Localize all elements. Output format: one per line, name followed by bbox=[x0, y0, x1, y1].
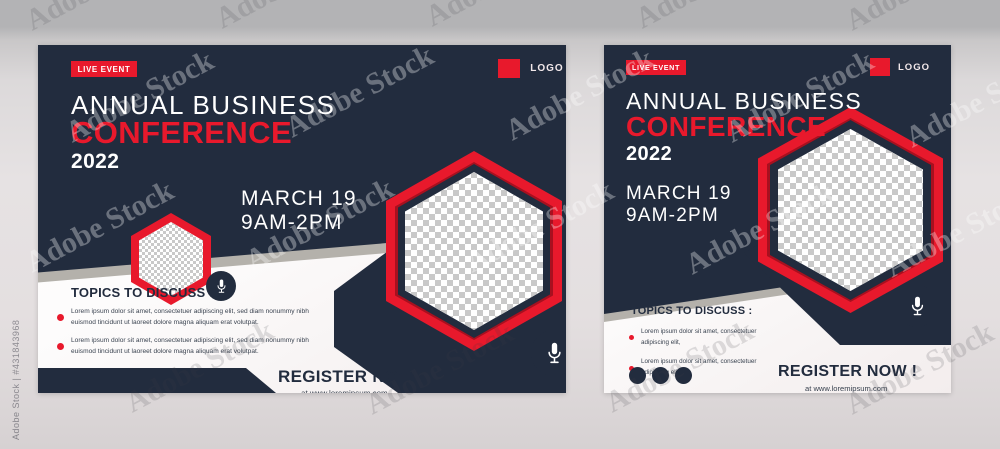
watermark-text: Adobe Stock bbox=[20, 0, 179, 38]
wide-banner-topics-list: Lorem ipsum dolor sit amet, consectetuer… bbox=[57, 307, 325, 358]
wide-banner-date-line2: 9AM-2PM bbox=[241, 211, 343, 235]
bullet-dot-icon bbox=[57, 314, 64, 321]
square-banner-live-event-badge[interactable]: LIVE EVENT bbox=[626, 60, 686, 75]
list-item: Lorem ipsum dolor sit amet, consectetuer… bbox=[57, 336, 325, 358]
wide-banner-dot-group bbox=[463, 370, 536, 389]
wide-banner-logo-label-wrap: LOGO bbox=[520, 59, 566, 78]
wide-banner-url[interactable]: at www.loremipsum.com bbox=[301, 389, 388, 393]
wide-banner-topic-text: Lorem ipsum dolor sit amet, consectetuer… bbox=[71, 336, 325, 358]
wide-banner-date-line1: MARCH 19 bbox=[241, 187, 357, 211]
logo-mark-icon bbox=[498, 59, 520, 78]
square-banner-dot-group bbox=[629, 367, 692, 384]
decorative-dot bbox=[463, 370, 482, 389]
square-banner-logo-label-wrap: LOGO bbox=[890, 58, 938, 76]
wide-banner-hero-hexagon bbox=[386, 151, 562, 351]
square-banner-date-line1: MARCH 19 bbox=[626, 183, 732, 205]
watermark-text: Adobe Stock bbox=[420, 0, 579, 34]
wide-banner-logo-label: LOGO bbox=[530, 63, 563, 74]
wide-banner[interactable]: LIVE EVENT LOGO ANNUAL BUSINESS CONFEREN… bbox=[38, 45, 566, 393]
list-item: Lorem ipsum dolor sit amet, consectetuer… bbox=[629, 327, 769, 348]
logo-mark-icon bbox=[870, 58, 890, 76]
square-banner-title-line2: CONFERENCE bbox=[626, 111, 826, 143]
wide-banner-topic-text: Lorem ipsum dolor sit amet, consectetuer… bbox=[71, 307, 325, 329]
list-item: Lorem ipsum dolor sit amet, consectetuer… bbox=[57, 307, 325, 329]
decorative-dot bbox=[517, 370, 536, 389]
bullet-dot-icon bbox=[629, 335, 634, 340]
wide-banner-logo-badge[interactable]: LOGO bbox=[498, 59, 566, 78]
watermark-text: Adobe Stock bbox=[630, 0, 789, 36]
square-banner-topics-heading: TOPICS TO DISCUSS : bbox=[631, 305, 752, 317]
square-banner-mic-badge[interactable] bbox=[896, 285, 938, 327]
design-preview-canvas: LIVE EVENT LOGO ANNUAL BUSINESS CONFEREN… bbox=[0, 0, 1000, 449]
wide-banner-topics-heading: TOPICS TO DISCUSS : bbox=[71, 285, 214, 300]
wide-banner-year: 2022 bbox=[71, 150, 119, 174]
square-banner-live-event-label: LIVE EVENT bbox=[632, 63, 680, 72]
decorative-dot bbox=[629, 367, 646, 384]
bullet-dot-icon bbox=[57, 343, 64, 350]
decorative-dot bbox=[490, 370, 509, 389]
square-banner-topic-text: Lorem ipsum dolor sit amet, consectetuer… bbox=[641, 327, 769, 348]
microphone-icon bbox=[545, 342, 564, 365]
square-banner-logo-badge[interactable]: LOGO bbox=[870, 58, 938, 76]
microphone-icon bbox=[909, 296, 926, 317]
wide-banner-live-event-label: LIVE EVENT bbox=[78, 65, 131, 74]
square-banner-cta[interactable]: REGISTER NOW ! bbox=[778, 363, 917, 381]
square-banner-year: 2022 bbox=[626, 143, 672, 166]
wide-banner-navy-footer-bar bbox=[38, 368, 276, 393]
microphone-icon bbox=[215, 279, 228, 294]
watermark-side-label: Adobe Stock | #431843968 bbox=[11, 320, 21, 440]
square-banner-date-line2: 9AM-2PM bbox=[626, 205, 719, 227]
square-banner-url[interactable]: at www.loremipsum.com bbox=[805, 384, 887, 393]
watermark-text: Adobe Stock bbox=[210, 0, 369, 36]
decorative-dot bbox=[675, 367, 692, 384]
wide-banner-title-line2: CONFERENCE bbox=[71, 115, 292, 151]
square-banner-logo-label: LOGO bbox=[898, 62, 930, 73]
wide-banner-cta[interactable]: REGISTER NOW ! bbox=[278, 367, 426, 387]
decorative-dot bbox=[652, 367, 669, 384]
wide-banner-live-event-badge[interactable]: LIVE EVENT bbox=[71, 61, 137, 77]
square-banner[interactable]: LIVE EVENT LOGO ANNUAL BUSINESS CONFEREN… bbox=[604, 45, 951, 393]
watermark-text: Adobe Stock bbox=[840, 0, 999, 38]
